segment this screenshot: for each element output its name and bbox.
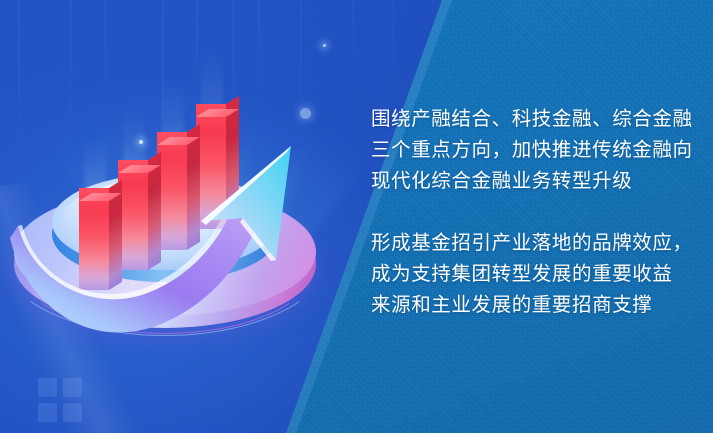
- paragraph-2-line-2: 成为支持集团转型发展的重要收益: [371, 259, 691, 290]
- growth-chart-illustration: [0, 78, 330, 378]
- particle-dot: [323, 44, 326, 47]
- paragraph-2: 形成基金招引产业落地的品牌效应， 成为支持集团转型发展的重要收益 来源和主业发展…: [371, 228, 691, 321]
- paragraph-1-line-2: 三个重点方向，加快推进传统金融向: [371, 135, 691, 166]
- paragraph-2-line-3: 来源和主业发展的重要招商支撑: [371, 290, 691, 321]
- background-grid-watermark: [38, 378, 84, 424]
- paragraph-1-line-1: 围绕产融结合、科技金融、综合金融: [371, 104, 691, 135]
- slide-canvas: 围绕产融结合、科技金融、综合金融 三个重点方向，加快推进传统金融向 现代化综合金…: [0, 0, 713, 433]
- paragraph-spacer: [371, 197, 691, 228]
- paragraph-2-line-1: 形成基金招引产业落地的品牌效应，: [371, 228, 691, 259]
- copy-block: 围绕产融结合、科技金融、综合金融 三个重点方向，加快推进传统金融向 现代化综合金…: [371, 104, 691, 321]
- rising-arrow-icon: [0, 78, 330, 378]
- paragraph-1-line-3: 现代化综合金融业务转型升级: [371, 166, 691, 197]
- paragraph-1: 围绕产融结合、科技金融、综合金融 三个重点方向，加快推进传统金融向 现代化综合金…: [371, 104, 691, 197]
